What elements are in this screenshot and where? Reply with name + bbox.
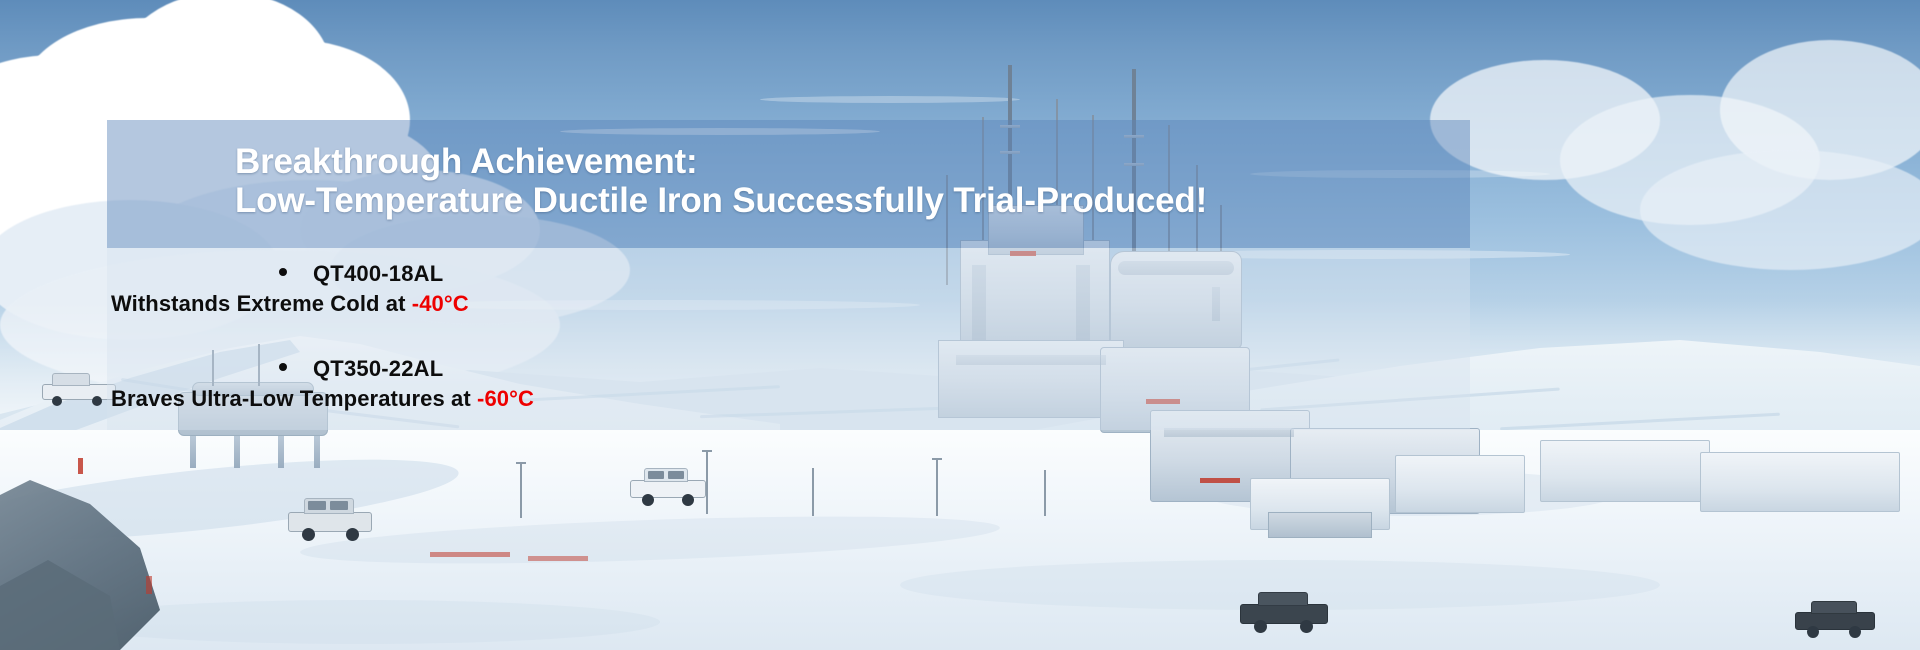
vehicle-wheel [682, 494, 694, 506]
vehicle-wheel [1254, 620, 1267, 633]
outpost-building [1700, 452, 1900, 512]
vehicle-window [308, 501, 326, 510]
grade-label: QT400-18AL [313, 262, 443, 285]
grade-label: QT350-22AL [313, 357, 443, 380]
vehicle-cabin [1811, 601, 1857, 614]
bullet-dot-icon [279, 268, 287, 276]
road-marker [78, 458, 83, 474]
vehicle-body [288, 512, 372, 532]
banner-scene: Breakthrough Achievement: Low-Temperatur… [0, 0, 1920, 650]
bullet-dot-icon [279, 363, 287, 371]
vehicle-body [630, 480, 706, 498]
tank-support [278, 436, 284, 468]
vehicle-car-far-right [1795, 600, 1875, 636]
utility-pole-crossarm [702, 450, 712, 452]
banner-title-band: Breakthrough Achievement: Low-Temperatur… [107, 120, 1470, 248]
road-marker [528, 556, 588, 561]
outpost-building [1540, 440, 1710, 502]
temperature-value: -60°C [477, 386, 534, 411]
road-marker [146, 576, 152, 594]
utility-pole [812, 468, 814, 516]
utility-pole [706, 450, 708, 514]
banner-body-band: QT400-18AL Withstands Extreme Cold at -4… [107, 248, 1470, 430]
tank-support [190, 436, 196, 468]
vehicle-cabin [52, 373, 90, 386]
vehicle-wheel [92, 396, 102, 406]
vehicle-suv-center [630, 466, 706, 504]
vehicle-window [668, 471, 684, 479]
vehicle-body [1795, 612, 1875, 630]
utility-pole [520, 462, 522, 518]
vehicle-wheel [346, 528, 359, 541]
headline-line-2: Low-Temperature Ductile Iron Successfull… [235, 181, 1470, 220]
vehicle-truck-right [1240, 590, 1328, 630]
temperature-value: -40°C [412, 291, 469, 316]
vehicle-wheel [1849, 626, 1861, 638]
bullet-item-1: QT400-18AL Withstands Extreme Cold at -4… [279, 262, 1470, 317]
vehicle-body [1240, 604, 1328, 624]
utility-pole-crossarm [932, 458, 942, 460]
vehicle-wheel [1807, 626, 1819, 638]
bullet-heading: QT350-22AL [279, 357, 1470, 380]
tank-support [234, 436, 240, 468]
vehicle-wheel [1300, 620, 1313, 633]
vehicle-suv-left [288, 496, 372, 538]
vehicle-wheel [302, 528, 315, 541]
page-title: Breakthrough Achievement: Low-Temperatur… [235, 142, 1470, 220]
vehicle-cabin [1258, 592, 1308, 606]
bullet-description: Braves Ultra-Low Temperatures at -60°C [107, 386, 1470, 412]
road-marker [430, 552, 510, 557]
vehicle-window [648, 471, 664, 479]
vehicle-wheel [642, 494, 654, 506]
bullet-item-2: QT350-22AL Braves Ultra-Low Temperatures… [279, 357, 1470, 412]
bullet-description: Withstands Extreme Cold at -40°C [107, 291, 1470, 317]
vehicle-wheel [52, 396, 62, 406]
description-text: Withstands Extreme Cold at [111, 291, 412, 316]
vehicle-truck-far-left [42, 372, 116, 404]
utility-pole-crossarm [516, 462, 526, 464]
tank-support [314, 436, 320, 468]
cloud-puff [1640, 150, 1920, 270]
outpost-building [1395, 455, 1525, 513]
headline-line-1: Breakthrough Achievement: [235, 142, 697, 181]
outpost-shed [1268, 512, 1372, 538]
vehicle-window [330, 501, 348, 510]
utility-pole [936, 458, 938, 516]
promo-banner: Breakthrough Achievement: Low-Temperatur… [107, 120, 1470, 430]
station-accent-stripe [1200, 478, 1240, 483]
utility-pole [1044, 470, 1046, 516]
description-text: Braves Ultra-Low Temperatures at [111, 386, 477, 411]
bullet-heading: QT400-18AL [279, 262, 1470, 285]
